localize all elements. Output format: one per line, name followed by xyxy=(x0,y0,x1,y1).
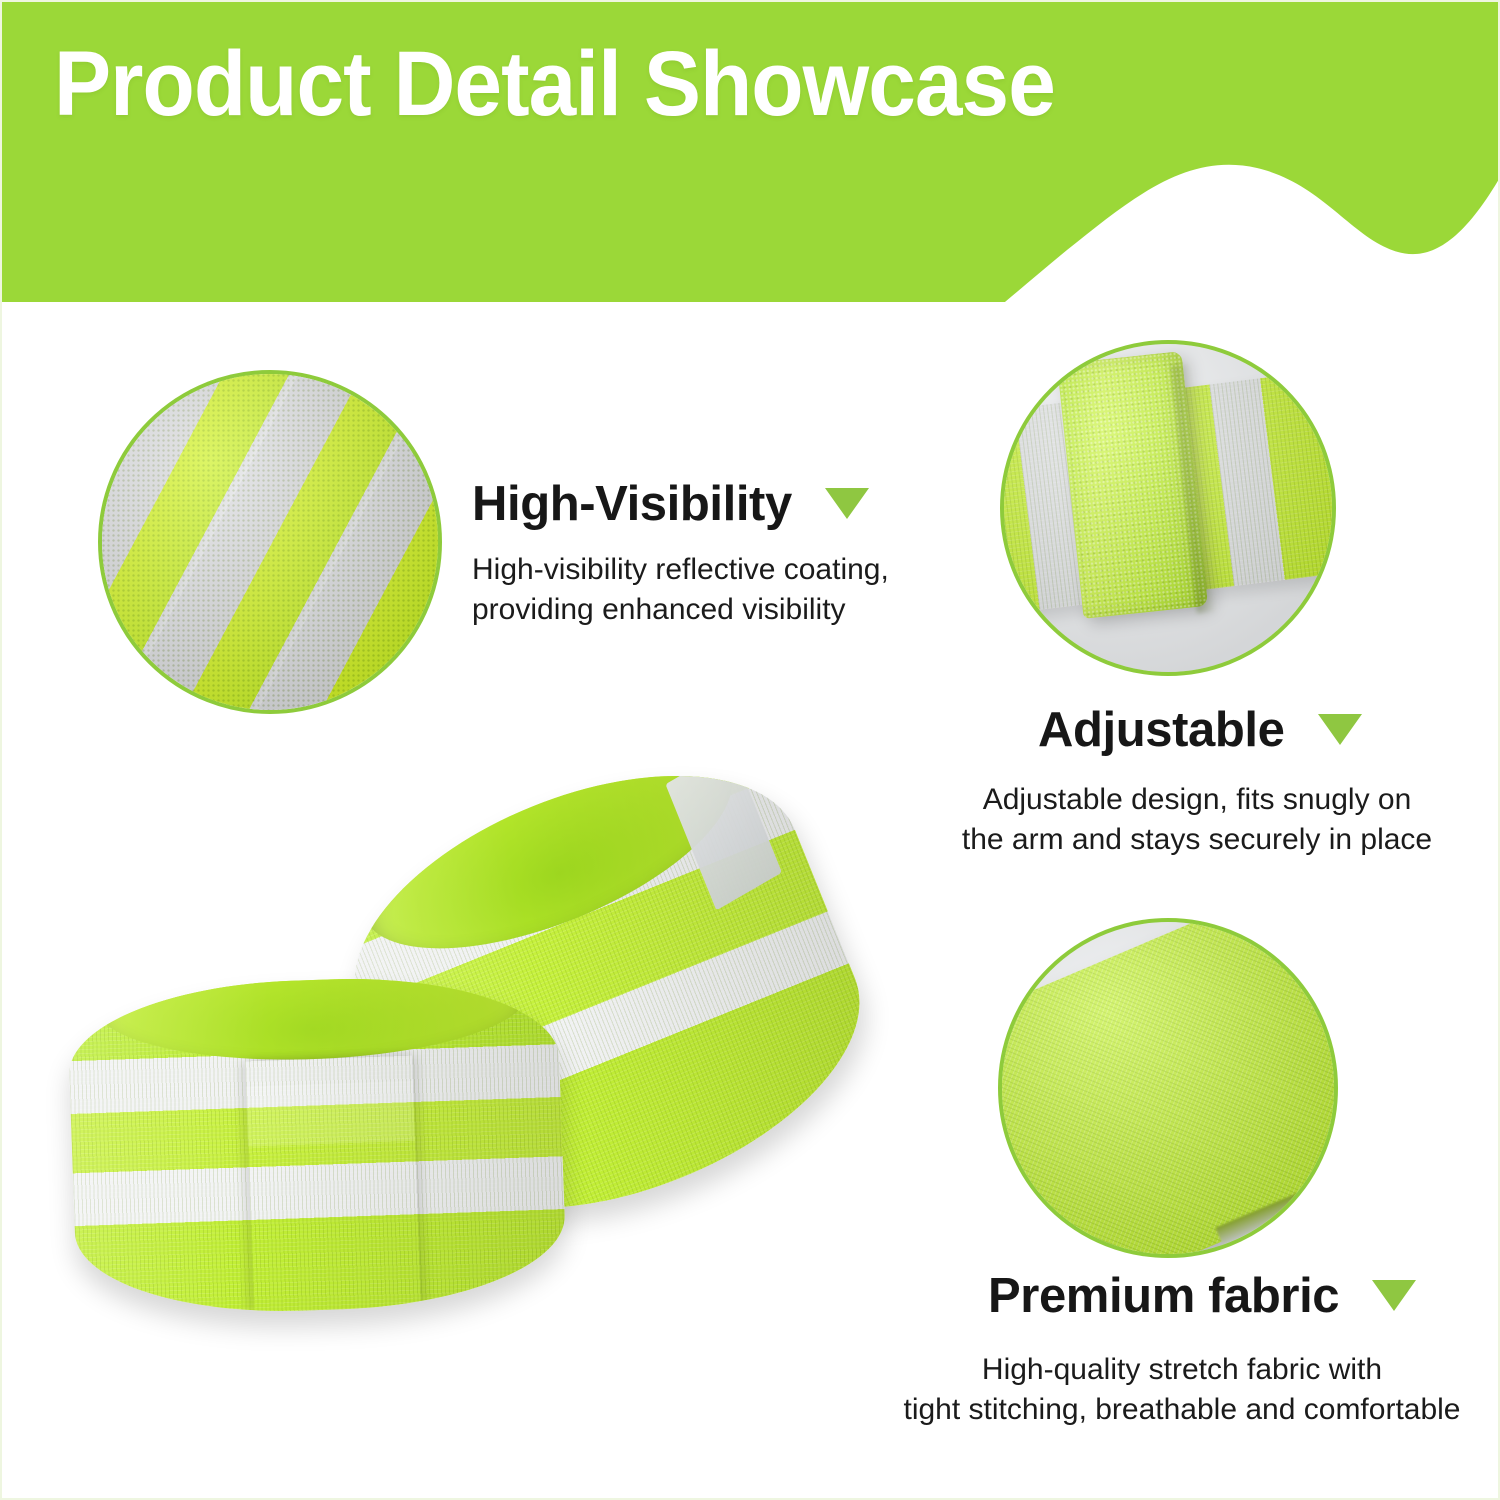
feature-image-premium-fabric xyxy=(998,918,1338,1258)
feature-title-text: Premium fabric xyxy=(988,1269,1339,1323)
feature-image-high-visibility xyxy=(98,370,442,714)
product-detail-showcase-page: Product Detail Showcase High-Visibility … xyxy=(0,0,1500,1500)
knit-texture-overlay xyxy=(98,370,442,714)
armband-front xyxy=(66,972,567,1319)
header-banner: Product Detail Showcase xyxy=(2,2,1500,302)
armband-front-body xyxy=(66,972,567,1319)
stretch-fabric-photo xyxy=(1002,922,1334,1254)
armband-front-overlap xyxy=(245,1056,420,1312)
triangle-down-icon xyxy=(1372,1280,1416,1311)
feature-description-premium-fabric: High-quality stretch fabric with tight s… xyxy=(882,1350,1482,1430)
feature-title-adjustable: Adjustable xyxy=(1038,702,1362,758)
page-title: Product Detail Showcase xyxy=(54,38,1055,130)
triangle-down-icon xyxy=(825,488,869,519)
feature-image-adjustable xyxy=(1000,340,1336,676)
feature-title-text: Adjustable xyxy=(1038,703,1284,757)
feature-title-high-visibility: High-Visibility xyxy=(472,476,869,532)
feature-description-high-visibility: High-visibility reflective coating, prov… xyxy=(472,550,889,630)
feature-title-text: High-Visibility xyxy=(472,477,792,531)
reflective-stripe-texture xyxy=(102,374,438,710)
triangle-down-icon xyxy=(1318,714,1362,745)
product-hero-image xyxy=(72,792,902,1392)
velcro-closure-photo xyxy=(1004,344,1332,672)
armband-front-opening xyxy=(94,972,529,1067)
feature-description-adjustable: Adjustable design, fits snugly on the ar… xyxy=(932,780,1462,860)
feature-title-premium-fabric: Premium fabric xyxy=(988,1268,1416,1324)
